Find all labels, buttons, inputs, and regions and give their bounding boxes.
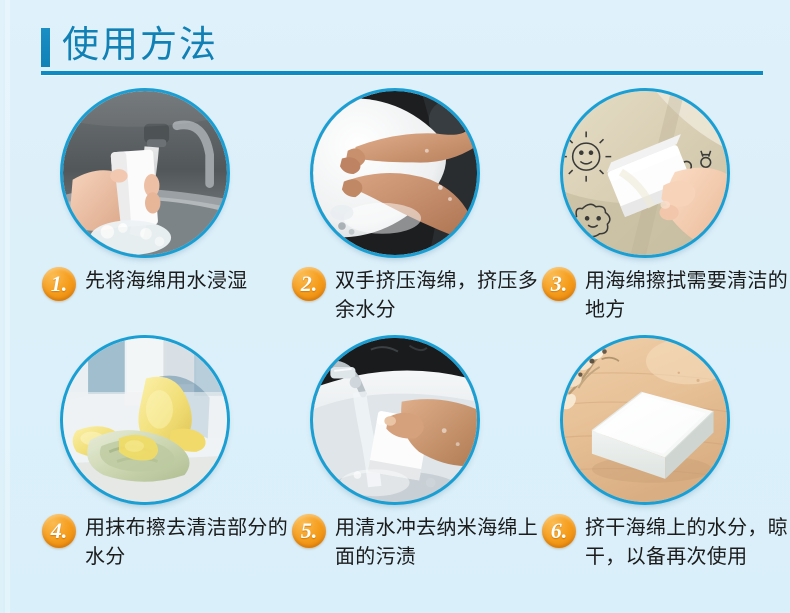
photo-wiping-crayon-wall [560,88,730,258]
step-5-caption-row: 5. 用清水冲去纳米海绵上面的污渍 [292,513,542,571]
photo-hands-squeezing-sponge [310,88,480,258]
step-2-photo-wrap [310,88,480,258]
photo-gloved-hands-with-cloth [60,335,230,505]
step-3-caption-row: 3. 用海绵擦拭需要清洁的地方 [542,266,790,324]
step-item-4: 4. 用抹布擦去清洁部分的水分 [42,335,292,580]
step-number-label: 5. [292,514,326,548]
step-item-1: 1. 先将海绵用水浸湿 [42,88,292,333]
step-6-photo-wrap [560,335,730,505]
step-4-photo-wrap [60,335,230,505]
step-item-3: 3. 用海绵擦拭需要清洁的地方 [542,88,790,333]
step-6-caption-row: 6. 挤干海绵上的水分，晾干，以备再次使用 [542,513,790,571]
step-number-badge: 5. [292,514,326,548]
step-1-photo-wrap [60,88,230,258]
step-number-badge: 2. [292,267,326,301]
step-number-label: 2. [292,267,326,301]
section-header: 使用方法 [41,26,763,78]
step-number-label: 3. [542,267,576,301]
steps-grid: 1. 先将海绵用水浸湿 [0,88,790,598]
step-caption-text: 用抹布擦去清洁部分的水分 [85,513,290,571]
step-1-caption-row: 1. 先将海绵用水浸湿 [42,266,292,301]
photo-sponge-under-faucet [60,88,230,258]
step-caption-text: 先将海绵用水浸湿 [85,266,247,295]
step-number-badge: 3. [542,267,576,301]
step-5-photo-wrap [310,335,480,505]
step-caption-text: 用海绵擦拭需要清洁的地方 [585,266,790,324]
photo-rinsing-sponge-in-sink [310,335,480,505]
usage-instructions-page: 使用方法 [0,0,790,613]
step-number-badge: 6. [542,514,576,548]
step-number-badge: 1. [42,267,76,301]
step-caption-text: 挤干海绵上的水分，晾干，以备再次使用 [585,513,790,571]
step-2-caption-row: 2. 双手挤压海绵，挤压多余水分 [292,266,542,324]
page-title: 使用方法 [62,22,218,68]
step-number-label: 4. [42,514,76,548]
step-caption-text: 用清水冲去纳米海绵上面的污渍 [335,513,540,571]
step-caption-text: 双手挤压海绵，挤压多余水分 [335,266,540,324]
step-4-caption-row: 4. 用抹布擦去清洁部分的水分 [42,513,292,571]
header-accent-bar [41,28,50,67]
step-item-5: 5. 用清水冲去纳米海绵上面的污渍 [292,335,542,580]
step-item-2: 2. 双手挤压海绵，挤压多余水分 [292,88,542,333]
step-3-photo-wrap [560,88,730,258]
step-number-label: 6. [542,514,576,548]
step-item-6: 6. 挤干海绵上的水分，晾干，以备再次使用 [542,335,790,580]
step-number-label: 1. [42,267,76,301]
step-number-badge: 4. [42,514,76,548]
photo-dry-sponge-block [560,335,730,505]
header-divider [41,71,763,75]
